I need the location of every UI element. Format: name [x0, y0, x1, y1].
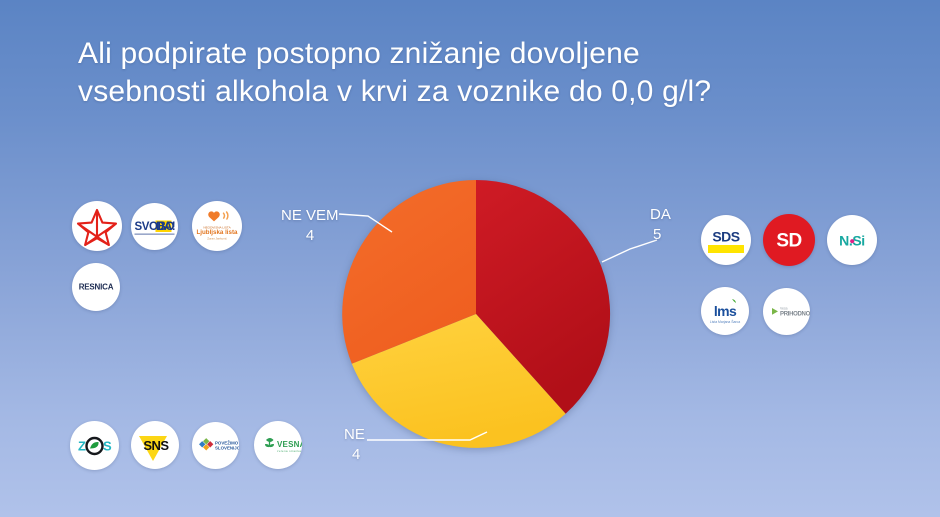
pie-graphic	[340, 178, 612, 450]
svoboda-wordmark-icon: SVOBO DA!	[131, 203, 178, 250]
ljubljanska-lista-hearts-icon: NEODVISNA LISTA Ljubljska lista Zoran Ja…	[192, 201, 242, 251]
povezimo-slovenijo-icon: POVEŽIMO SLOVENIJO	[192, 422, 239, 469]
nsi-wordmark-icon: N.Si	[827, 215, 877, 265]
zos-wordmark-icon: Z S	[70, 421, 119, 470]
vesna-leaf-icon: VESNA zelena stranka	[254, 421, 302, 469]
svg-text:SD: SD	[776, 231, 801, 252]
callout-ne: NE 4	[344, 425, 365, 465]
callout-ne-label: NE	[344, 426, 365, 443]
callout-da-label: DA	[650, 205, 671, 225]
callout-da-value: 5	[650, 225, 671, 245]
callout-ne-value: 4	[344, 445, 365, 465]
title-line-2: vsebnosti alkohola v krvi za voznike do …	[78, 73, 838, 111]
title-line-1: Ali podpirate postopno znižanje dovoljen…	[78, 35, 838, 73]
logo-ljubljanska-lista: NEODVISNA LISTA Ljubljska lista Zoran Ja…	[192, 201, 242, 251]
svg-text:Ljubljska lista: Ljubljska lista	[197, 229, 238, 236]
logo-lms: lms Lista Marjana Šarca	[701, 287, 749, 335]
levica-star-icon	[72, 201, 122, 251]
svg-text:S: S	[103, 439, 112, 454]
svg-text:Lista Marjana Šarca: Lista Marjana Šarca	[710, 319, 740, 324]
svg-text:SNS: SNS	[143, 438, 169, 453]
callout-nevem-value: 4	[281, 226, 339, 246]
callout-nevem: NE VEM 4	[281, 206, 339, 246]
sd-wordmark-icon: SD	[763, 214, 815, 266]
sds-wordmark-icon: SDS	[701, 215, 751, 265]
svg-text:PRIHODNOST: PRIHODNOST	[780, 312, 810, 318]
logo-vesna: VESNA zelena stranka	[254, 421, 302, 469]
svg-text:SLOVENIJO: SLOVENIJO	[215, 446, 239, 451]
logo-povezimo-slovenijo: POVEŽIMO SLOVENIJO	[192, 422, 239, 469]
svg-text:zelena stranka: zelena stranka	[277, 449, 301, 453]
svg-text:VESNA: VESNA	[277, 440, 302, 449]
lms-wordmark-icon: lms Lista Marjana Šarca	[701, 287, 749, 335]
logo-sds: SDS	[701, 215, 751, 265]
logo-svoboda: SVOBO DA!	[131, 203, 178, 250]
prihodnost-wordmark-icon: Vesa PRIHODNOST	[763, 288, 810, 335]
svg-text:lms: lms	[714, 303, 737, 319]
logo-nsi: N.Si	[827, 215, 877, 265]
sns-wordmark-icon: SNS	[131, 421, 179, 469]
resnica-wordmark-icon: RESNICA	[72, 263, 120, 311]
svg-text:Zoran Janković: Zoran Janković	[207, 236, 227, 240]
logo-sns: SNS	[131, 421, 179, 469]
callout-nevem-label: NE VEM	[281, 207, 339, 224]
page-title: Ali podpirate postopno znižanje dovoljen…	[78, 35, 838, 111]
svg-text:Vesa: Vesa	[780, 307, 788, 311]
callout-da: DA 5	[650, 205, 671, 245]
svg-text:SDS: SDS	[712, 229, 739, 245]
logo-resnica: RESNICA	[72, 263, 120, 311]
svg-text:Z: Z	[78, 439, 86, 454]
pie-chart	[340, 178, 612, 450]
logo-zos: Z S	[70, 421, 119, 470]
logo-prihodnost: Vesa PRIHODNOST	[763, 288, 810, 335]
svg-text:RESNICA: RESNICA	[79, 283, 114, 292]
logo-levica	[72, 201, 122, 251]
svg-text:DA!: DA!	[156, 221, 175, 233]
logo-sd: SD	[763, 214, 815, 266]
